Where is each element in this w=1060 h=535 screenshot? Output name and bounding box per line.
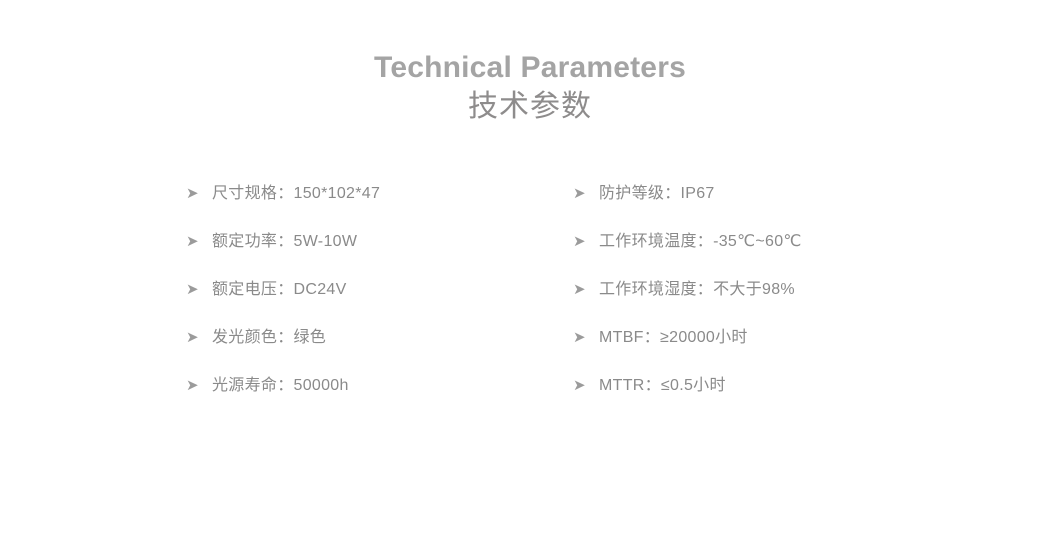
arrowhead-bullet-icon: ➤ (573, 230, 599, 252)
list-item: ➤ 发光颜色：绿色 (186, 326, 380, 374)
spec-text: 额定功率：5W-10W (212, 231, 357, 253)
list-item: ➤ 防护等级：IP67 (573, 182, 802, 230)
page-title-english: Technical Parameters (0, 50, 1060, 86)
list-item: ➤ 额定功率：5W-10W (186, 230, 380, 278)
spec-text: 额定电压：DC24V (212, 279, 347, 301)
spec-text: MTTR：≤0.5小时 (599, 375, 726, 397)
spec-text: 工作环境湿度：不大于98% (599, 279, 795, 301)
specification-list-right: ➤ 防护等级：IP67 ➤ 工作环境温度：-35℃~60℃ ➤ 工作环境湿度：不… (573, 182, 802, 422)
list-item: ➤ 工作环境温度：-35℃~60℃ (573, 230, 802, 278)
arrowhead-bullet-icon: ➤ (186, 230, 212, 252)
list-item: ➤ MTBF：≥20000小时 (573, 326, 802, 374)
arrowhead-bullet-icon: ➤ (573, 182, 599, 204)
spec-text: 尺寸规格：150*102*47 (212, 183, 380, 205)
page-heading: Technical Parameters 技术参数 (0, 50, 1060, 126)
spec-text: 工作环境温度：-35℃~60℃ (599, 231, 802, 253)
arrowhead-bullet-icon: ➤ (186, 182, 212, 204)
spec-text: 发光颜色：绿色 (212, 327, 326, 349)
technical-parameters-page: Technical Parameters 技术参数 ➤ 尺寸规格：150*102… (0, 0, 1060, 535)
spec-text: MTBF：≥20000小时 (599, 327, 748, 349)
arrowhead-bullet-icon: ➤ (573, 374, 599, 396)
list-item: ➤ 尺寸规格：150*102*47 (186, 182, 380, 230)
list-item: ➤ 额定电压：DC24V (186, 278, 380, 326)
specification-columns: ➤ 尺寸规格：150*102*47 ➤ 额定功率：5W-10W ➤ 额定电压：D… (0, 182, 1060, 432)
arrowhead-bullet-icon: ➤ (186, 374, 212, 396)
arrowhead-bullet-icon: ➤ (573, 326, 599, 348)
spec-text: 防护等级：IP67 (599, 183, 715, 205)
arrowhead-bullet-icon: ➤ (573, 278, 599, 300)
list-item: ➤ 工作环境湿度：不大于98% (573, 278, 802, 326)
spec-text: 光源寿命：50000h (212, 375, 349, 397)
specification-list-left: ➤ 尺寸规格：150*102*47 ➤ 额定功率：5W-10W ➤ 额定电压：D… (186, 182, 380, 422)
list-item: ➤ 光源寿命：50000h (186, 374, 380, 422)
arrowhead-bullet-icon: ➤ (186, 326, 212, 348)
page-title-chinese: 技术参数 (0, 88, 1060, 126)
list-item: ➤ MTTR：≤0.5小时 (573, 374, 802, 422)
arrowhead-bullet-icon: ➤ (186, 278, 212, 300)
